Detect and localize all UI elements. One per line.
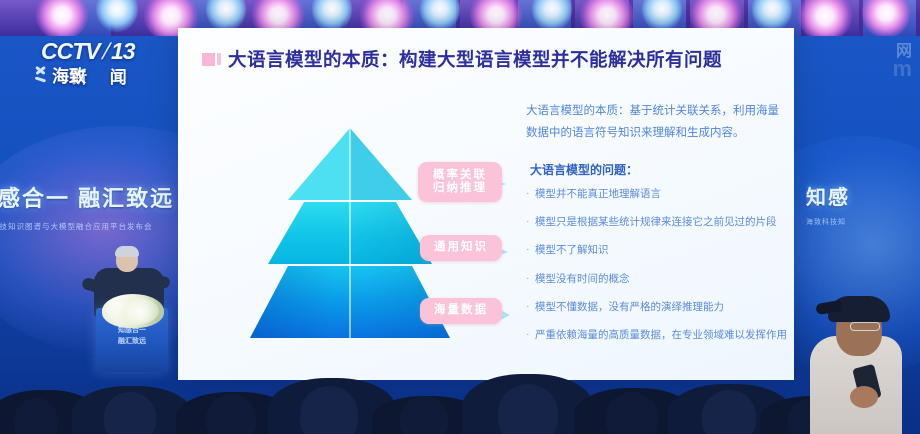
cctv-channel-number: 13 [111, 38, 135, 64]
sponsor-watermark: 海致 [34, 62, 86, 87]
flower-arrangement [102, 294, 164, 328]
pyramid-tier-top-shade [350, 128, 412, 200]
backdrop-left-subtitle: 海致科技知识图谱与大模型融合应用平台发布会 [0, 221, 200, 232]
spotlight-glow [36, 0, 88, 36]
pyramid-label-bottom: 海量数据 [420, 298, 502, 324]
eyeglasses-icon [850, 322, 880, 331]
audience-head [400, 396, 448, 434]
audience-head [300, 386, 358, 434]
channel-bug: CCTV/13 新 闻 海致 [36, 36, 184, 88]
cctv-logo: CCTV/13 [41, 38, 135, 65]
slide-title-row: 大语言模型的本质：构建大型语言模型并不能解决所有问题 [202, 46, 786, 72]
spotlight-glow [862, 0, 910, 36]
audience-head [104, 392, 156, 434]
backdrop-right-title: 知感 [806, 181, 920, 210]
list-item: 模型没有时间的概念 [526, 272, 780, 287]
pyramid-label-bottom-line1: 海量数据 [434, 304, 488, 317]
slide-lead-paragraph: 大语言模型的本质：基于统计关联关系，利用海量数据中的语言符号知识来理解和生成内容… [526, 100, 780, 145]
list-item: 严重依赖海量的高质量数据，在专业领域难以发挥作用 [526, 328, 780, 343]
watermark-line2: m [892, 58, 912, 80]
backdrop-banner-right: 知感 海致科技知 [806, 181, 920, 296]
slide-problems-list: 模型并不能真正地理解语言 模型只是根据某些统计规律来连接它之前见过的片段 模型不… [526, 187, 780, 343]
backdrop-right-subtitle: 海致科技知 [806, 217, 920, 227]
broadcast-frame: 知感合一 融汇致远 海致科技知识图谱与大模型融合应用平台发布会 知感 海致科技知… [0, 0, 920, 434]
cctv-logo-text: CCTV [41, 38, 100, 64]
screen-watermark: 网 m [892, 44, 912, 80]
title-bullet-square-icon [202, 53, 215, 66]
slide-title-text: 大语言模型的本质：构建大型语言模型并不能解决所有问题 [228, 49, 722, 70]
list-item: 模型并不能真正地理解语言 [526, 187, 780, 202]
audience [0, 342, 920, 434]
audience-head [206, 394, 256, 434]
spotlight-glow [798, 0, 852, 36]
pyramid-label-middle-line1: 通用知识 [434, 241, 488, 254]
cctv-logo-slash-icon: / [99, 38, 112, 65]
audience-head [14, 398, 58, 434]
pyramid-label-middle: 通用知识 [420, 235, 502, 261]
audience-head [606, 392, 658, 434]
speaker-hair [115, 246, 139, 257]
pyramid-label-top-line2: 归纳推理 [433, 182, 487, 195]
list-item: 模型不懂数据，没有严格的演绎推理能力 [526, 300, 780, 315]
pyramid-label-top: 概率关联 归纳推理 [418, 162, 502, 202]
attendee-hand [850, 386, 878, 408]
pyramid-center-seam [349, 128, 351, 338]
title-bullet-bar-icon [217, 53, 221, 65]
list-item: 模型只是根据某些统计规律来连接它之前见过的片段 [526, 215, 780, 230]
audience-head [498, 384, 558, 434]
sponsor-watermark-text: 海致 [52, 62, 86, 87]
pyramid-label-top-line1: 概率关联 [433, 169, 487, 182]
sponsor-mark-icon [34, 66, 49, 84]
audience-head [702, 390, 756, 434]
attendee-with-cap [810, 282, 908, 434]
backdrop-left-title: 知感合一 融汇致远 [0, 181, 200, 213]
presentation-slide: 大语言模型的本质：构建大型语言模型并不能解决所有问题 概率关联 归纳推理 通用知… [178, 28, 794, 380]
slide-problems-heading: 大语言模型的问题： [530, 161, 780, 178]
slide-text-column: 大语言模型的本质：基于统计关联关系，利用海量数据中的语言符号知识来理解和生成内容… [526, 100, 780, 356]
list-item: 模型不了解知识 [526, 243, 780, 258]
